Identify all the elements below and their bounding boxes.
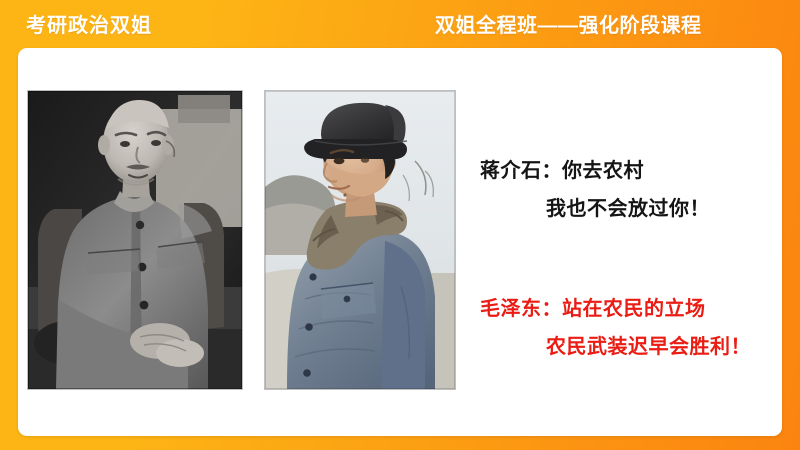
chiang-quote-block: 蒋介石：你去农村 我也不会放过你！ bbox=[480, 152, 776, 228]
mao-portrait-graphic bbox=[265, 91, 455, 389]
course-title: 双姐全程班——强化阶段课程 bbox=[435, 9, 702, 38]
chiang-quote-line-1: 蒋介石：你去农村 bbox=[480, 152, 776, 190]
mao-quote-block: 毛泽东：站在农民的立场 农民武装迟早会胜利！ bbox=[480, 290, 776, 366]
chiang-portrait-graphic bbox=[28, 91, 242, 389]
slide-root: 考研政治双姐 双姐全程班——强化阶段课程 bbox=[0, 0, 800, 450]
mao-quote-line-1: 毛泽东：站在农民的立场 bbox=[480, 290, 776, 328]
mao-quote-line-2: 农民武装迟早会胜利！ bbox=[480, 328, 776, 366]
chiang-kai-shek-photo bbox=[28, 91, 242, 389]
mao-zedong-photo bbox=[265, 91, 455, 389]
quote-area: 蒋介石：你去农村 我也不会放过你！ 毛泽东：站在农民的立场 农民武装迟早会胜利！ bbox=[480, 100, 776, 390]
brand-title: 考研政治双姐 bbox=[26, 9, 152, 38]
slide-header: 考研政治双姐 双姐全程班——强化阶段课程 bbox=[0, 0, 800, 50]
content-card: 蒋介石：你去农村 我也不会放过你！ 毛泽东：站在农民的立场 农民武装迟早会胜利！ bbox=[18, 48, 782, 436]
chiang-quote-line-2: 我也不会放过你！ bbox=[480, 190, 776, 228]
